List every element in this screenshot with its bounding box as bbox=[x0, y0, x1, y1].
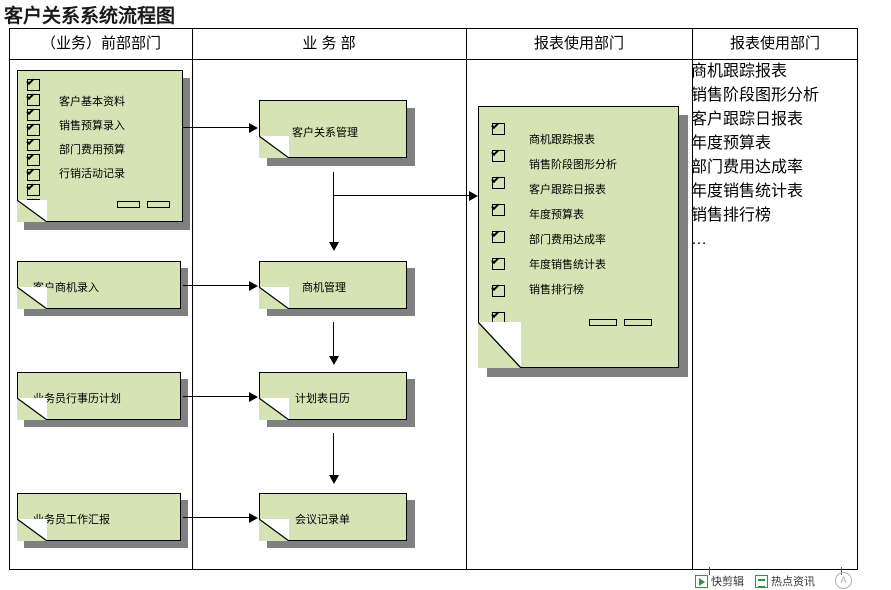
connector-line bbox=[333, 195, 475, 196]
report-item-label: 商机跟踪报表 bbox=[529, 131, 595, 147]
process-box-schedule-calendar[interactable]: 计划表日历 bbox=[259, 372, 407, 420]
check-icon bbox=[27, 109, 40, 121]
check-icon bbox=[27, 139, 40, 151]
checklist-document-customer[interactable]: 客户基本资料 销售预算录入 部门费用预算 行销活动记录 bbox=[17, 70, 183, 222]
connector-line bbox=[183, 517, 251, 518]
taskbar-item-quickcut[interactable]: 快剪辑 bbox=[695, 573, 744, 589]
check-icon bbox=[492, 231, 505, 243]
process-box-label: 会议记录单 bbox=[295, 511, 350, 527]
connector-arrow bbox=[249, 123, 258, 133]
connector-line bbox=[333, 322, 334, 358]
checklist-item-label: 部门费用预算 bbox=[59, 141, 125, 157]
report-item-label: 销售排行榜 bbox=[529, 281, 584, 297]
process-box-label: 商机管理 bbox=[302, 279, 346, 295]
connector-line bbox=[183, 285, 251, 286]
process-box-salesperson-report[interactable]: 业务员工作汇报 bbox=[17, 493, 181, 541]
check-icon bbox=[27, 154, 40, 166]
page-fold-corner bbox=[259, 398, 289, 420]
checklist-item-label: 销售预算录入 bbox=[59, 117, 125, 133]
list-item: 年度销售统计表 bbox=[691, 180, 856, 204]
taskbar-item-label: 快剪辑 bbox=[711, 573, 744, 589]
check-icon bbox=[492, 258, 505, 270]
connector-arrow bbox=[329, 242, 339, 251]
connector-arrow bbox=[249, 392, 258, 402]
connector-arrow bbox=[249, 281, 258, 291]
report-item-label: 客户跟踪日报表 bbox=[529, 181, 606, 197]
list-item: … bbox=[691, 228, 856, 252]
page-title: 客户关系系统流程图 bbox=[4, 1, 175, 28]
connector-line bbox=[333, 433, 334, 477]
check-icon bbox=[27, 184, 40, 196]
watermark-icon: A bbox=[835, 572, 852, 589]
checklist-document-reports[interactable]: 商机跟踪报表 销售阶段图形分析 客户跟踪日报表 年度预算表 部门费用达成率 年度… bbox=[478, 106, 679, 368]
process-box-customer-opportunity[interactable]: 客户商机录入 bbox=[17, 261, 181, 309]
footer-bar bbox=[147, 201, 170, 208]
footer-bar bbox=[117, 201, 140, 208]
page-fold-corner bbox=[478, 322, 521, 368]
list-item: 销售排行榜 bbox=[691, 204, 856, 228]
check-icon bbox=[492, 285, 505, 297]
check-icon bbox=[492, 123, 505, 135]
process-box-opportunity-mgmt[interactable]: 商机管理 bbox=[259, 261, 407, 309]
check-icon bbox=[27, 94, 40, 106]
list-item: 销售阶段图形分析 bbox=[691, 84, 856, 108]
checklist-item-label: 行销活动记录 bbox=[59, 165, 125, 181]
column-header-1: （业务）前部部门 bbox=[10, 28, 192, 59]
check-icon bbox=[27, 169, 40, 181]
column-divider-1 bbox=[192, 29, 193, 569]
process-box-meeting-minutes[interactable]: 会议记录单 bbox=[259, 493, 407, 541]
column-header-2: 业 务 部 bbox=[192, 28, 466, 59]
check-icon bbox=[492, 150, 505, 162]
process-box-crm[interactable]: 客户关系管理 bbox=[259, 100, 407, 158]
check-icon bbox=[27, 124, 40, 136]
page-fold-corner bbox=[17, 200, 47, 222]
report-item-label: 年度销售统计表 bbox=[529, 256, 606, 272]
checklist-item-label: 客户基本资料 bbox=[59, 93, 125, 109]
column-header-4: 报表使用部门 bbox=[692, 28, 858, 59]
list-item: 客户跟踪日报表 bbox=[691, 108, 856, 132]
connector-line bbox=[333, 172, 334, 244]
checkbox-column-2 bbox=[492, 123, 505, 354]
connector-arrow bbox=[329, 475, 339, 484]
page-fold-corner bbox=[17, 519, 47, 541]
check-icon bbox=[492, 177, 505, 189]
report-item-label: 销售阶段图形分析 bbox=[529, 156, 617, 172]
page-fold-corner bbox=[17, 398, 47, 420]
list-item: 年度预算表 bbox=[691, 132, 856, 156]
report-name-list: 商机跟踪报表 销售阶段图形分析 客户跟踪日报表 年度预算表 部门费用达成率 年度… bbox=[691, 60, 856, 252]
footer-bar bbox=[589, 319, 617, 326]
checkbox-column-1 bbox=[27, 79, 40, 214]
page-fold-corner bbox=[17, 287, 47, 309]
report-item-label: 年度预算表 bbox=[529, 206, 584, 222]
bottom-taskbar: 快剪辑 热点资讯 A bbox=[691, 571, 891, 590]
taskbar-item-label: 热点资讯 bbox=[771, 573, 815, 589]
process-box-label: 计划表日历 bbox=[295, 390, 350, 406]
connector-line bbox=[183, 396, 251, 397]
check-icon bbox=[27, 79, 40, 91]
process-box-salesperson-calendar[interactable]: 业务员行事历计划 bbox=[17, 372, 181, 420]
connector-arrow bbox=[329, 356, 339, 365]
news-icon bbox=[755, 575, 768, 588]
footer-bar bbox=[624, 319, 652, 326]
play-icon bbox=[695, 575, 708, 588]
connector-arrow bbox=[469, 191, 478, 201]
column-header-3: 报表使用部门 bbox=[466, 28, 692, 59]
page-fold-corner bbox=[259, 287, 289, 309]
list-item: 部门费用达成率 bbox=[691, 156, 856, 180]
column-divider-2 bbox=[466, 29, 467, 569]
process-box-label: 客户关系管理 bbox=[292, 124, 358, 140]
check-icon bbox=[492, 204, 505, 216]
page-fold-corner bbox=[259, 519, 289, 541]
list-item: 商机跟踪报表 bbox=[691, 60, 856, 84]
connector-line bbox=[183, 127, 251, 128]
report-item-label: 部门费用达成率 bbox=[529, 231, 606, 247]
taskbar-item-news[interactable]: 热点资讯 bbox=[755, 573, 815, 589]
connector-arrow bbox=[249, 513, 258, 523]
page-fold-corner bbox=[259, 136, 289, 158]
